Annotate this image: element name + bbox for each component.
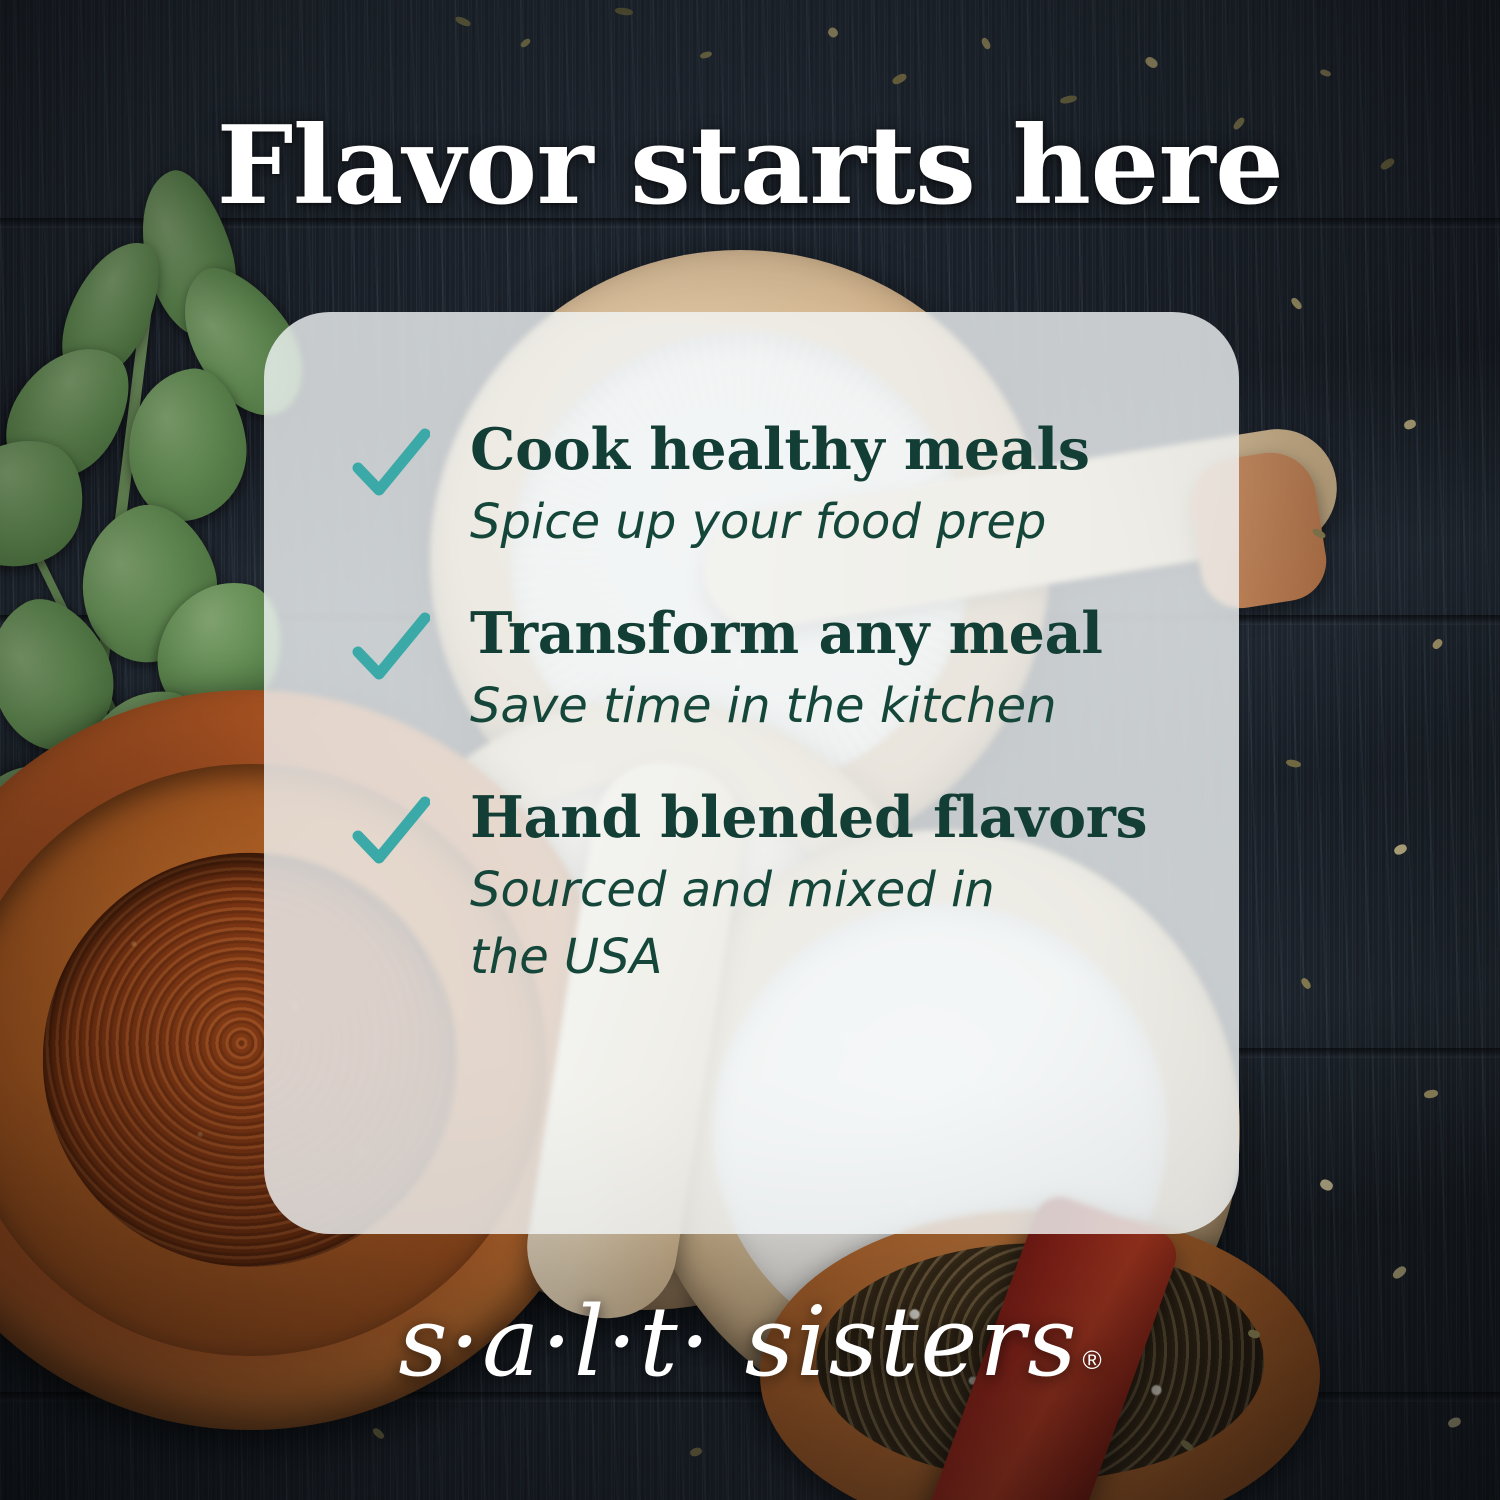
brand-wordmark: s·a·l·t· sisters xyxy=(398,1286,1078,1398)
benefit-item: Cook healthy meals Spice up your food pr… xyxy=(352,418,1182,556)
benefit-heading: Cook healthy meals xyxy=(470,418,1182,483)
check-icon xyxy=(352,612,430,690)
benefit-subtext: Save time in the kitchen xyxy=(470,673,1070,740)
benefit-heading: Hand blended flavors xyxy=(470,786,1182,851)
benefit-item: Transform any meal Save time in the kitc… xyxy=(352,602,1182,740)
page-title: Flavor starts here xyxy=(0,112,1500,220)
check-icon xyxy=(352,796,430,874)
benefit-heading: Transform any meal xyxy=(470,602,1182,667)
benefit-subtext: Sourced and mixed in the USA xyxy=(470,857,1070,991)
check-icon xyxy=(352,428,430,506)
infographic-canvas: Flavor starts here Cook healthy meals Sp… xyxy=(0,0,1500,1500)
benefit-subtext: Spice up your food prep xyxy=(470,489,1070,556)
benefits-list: Cook healthy meals Spice up your food pr… xyxy=(352,418,1182,992)
benefit-item: Hand blended flavors Sourced and mixed i… xyxy=(352,786,1182,991)
brand-logo: s·a·l·t· sisters® xyxy=(0,1286,1500,1398)
registered-trademark-icon: ® xyxy=(1082,1345,1101,1375)
